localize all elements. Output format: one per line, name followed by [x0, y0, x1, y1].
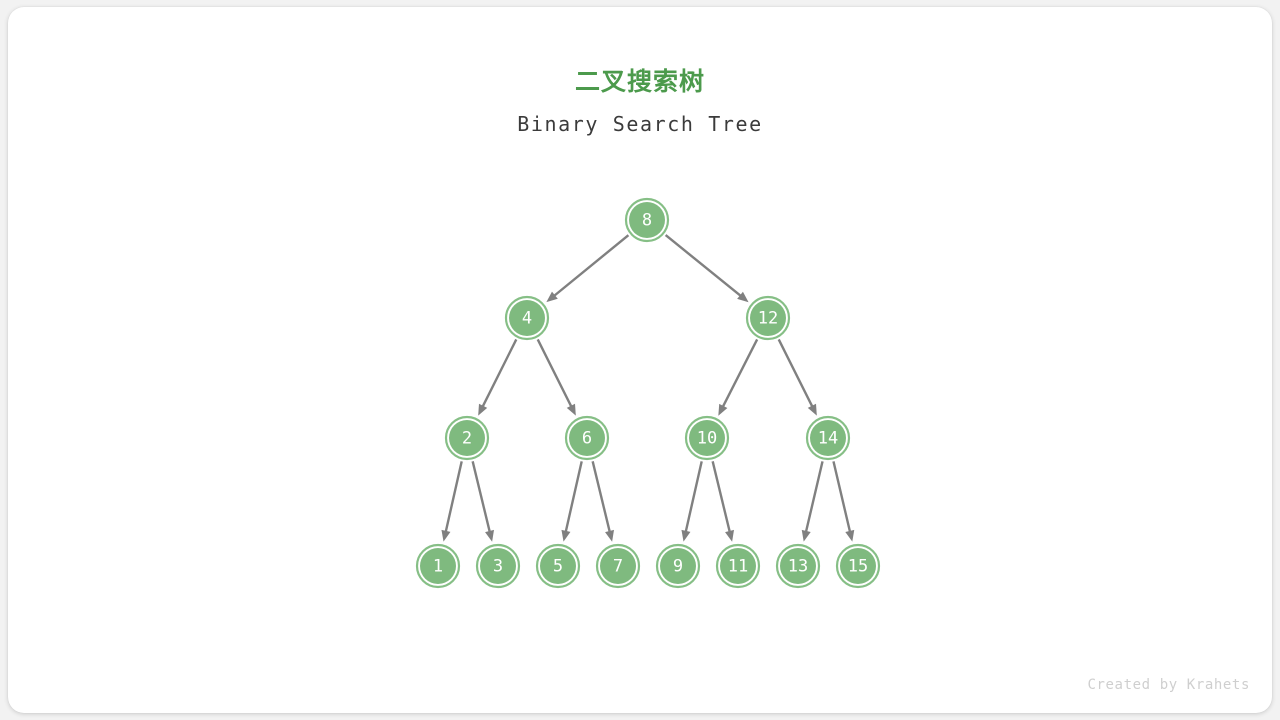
node-value-label: 3 — [493, 557, 503, 577]
tree-node-1: 1 — [416, 544, 460, 588]
node-value-label: 7 — [613, 557, 623, 577]
tree-edge-10-to-9 — [686, 461, 702, 532]
tree-edge-10-to-11 — [713, 461, 730, 533]
tree-edge-6-to-5 — [566, 461, 582, 532]
node-value-label: 12 — [758, 309, 778, 329]
tree-edge-14-to-15 — [833, 461, 850, 533]
tree-node-14: 14 — [806, 416, 850, 460]
arrowhead-icon — [485, 530, 494, 542]
tree-edge-12-to-14 — [779, 339, 813, 407]
nodes-layer: 841226101413579111315 — [416, 198, 880, 588]
arrowhead-icon — [845, 530, 854, 542]
tree-edge-12-to-10 — [722, 339, 757, 407]
tree-node-11: 11 — [716, 544, 760, 588]
node-value-label: 11 — [728, 557, 748, 577]
node-value-label: 13 — [788, 557, 808, 577]
watermark-credit: Created by Krahets — [1087, 677, 1250, 693]
binary-search-tree-diagram: 841226101413579111315 — [8, 7, 1272, 713]
tree-node-9: 9 — [656, 544, 700, 588]
arrowhead-icon — [441, 530, 450, 542]
arrowhead-icon — [561, 530, 570, 542]
node-value-label: 14 — [818, 429, 838, 449]
tree-node-8: 8 — [625, 198, 669, 242]
tree-edge-2-to-3 — [473, 461, 490, 533]
tree-node-3: 3 — [476, 544, 520, 588]
arrowhead-icon — [725, 530, 734, 542]
tree-edge-8-to-12 — [666, 235, 742, 296]
arrowhead-icon — [681, 530, 690, 542]
node-value-label: 8 — [642, 211, 652, 231]
tree-node-10: 10 — [685, 416, 729, 460]
tree-edge-8-to-4 — [553, 235, 628, 296]
node-value-label: 6 — [582, 429, 592, 449]
tree-edge-4-to-6 — [538, 339, 572, 407]
node-value-label: 15 — [848, 557, 868, 577]
tree-node-4: 4 — [505, 296, 549, 340]
arrowhead-icon — [802, 530, 811, 542]
tree-node-2: 2 — [445, 416, 489, 460]
tree-edge-14-to-13 — [806, 461, 823, 533]
tree-edge-2-to-1 — [446, 461, 462, 532]
tree-node-5: 5 — [536, 544, 580, 588]
node-value-label: 9 — [673, 557, 683, 577]
tree-node-15: 15 — [836, 544, 880, 588]
node-value-label: 5 — [553, 557, 563, 577]
tree-edge-4-to-2 — [482, 339, 516, 407]
node-value-label: 1 — [433, 557, 443, 577]
node-value-label: 2 — [462, 429, 472, 449]
tree-edge-6-to-7 — [593, 461, 610, 533]
node-value-label: 4 — [522, 309, 532, 329]
edges-layer — [441, 235, 854, 542]
tree-node-6: 6 — [565, 416, 609, 460]
tree-node-7: 7 — [596, 544, 640, 588]
tree-node-13: 13 — [776, 544, 820, 588]
arrowhead-icon — [605, 530, 614, 542]
node-value-label: 10 — [697, 429, 717, 449]
tree-node-12: 12 — [746, 296, 790, 340]
page-background: 二叉搜索树 Binary Search Tree 841226101413579… — [0, 0, 1280, 720]
diagram-card: 二叉搜索树 Binary Search Tree 841226101413579… — [8, 7, 1272, 713]
